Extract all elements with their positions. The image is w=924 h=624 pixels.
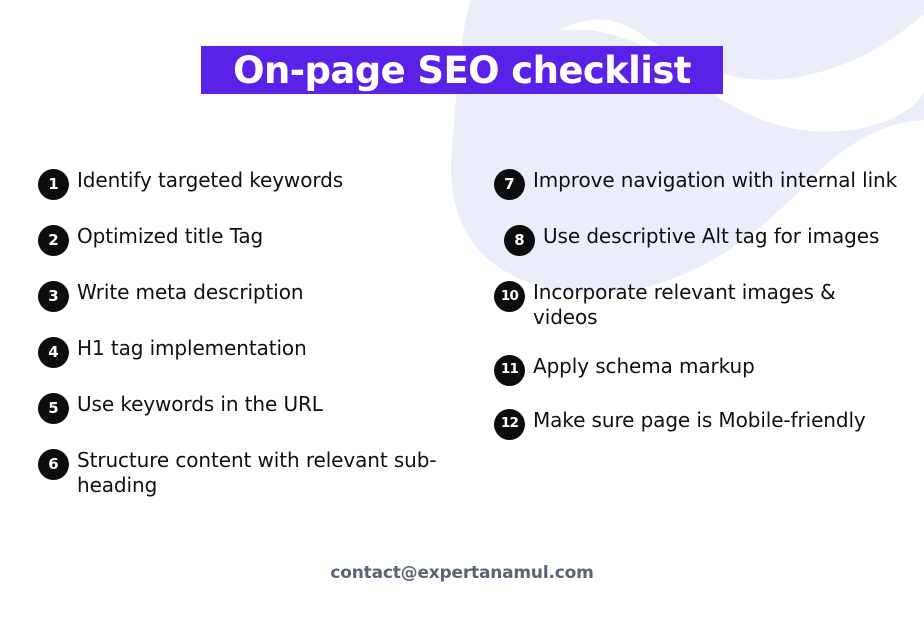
title-banner: On-page SEO checklist xyxy=(201,46,723,94)
checklist-item-2[interactable]: 2 Optimized title Tag xyxy=(38,224,458,256)
item-label: H1 tag implementation xyxy=(77,336,307,361)
item-number-badge: 12 xyxy=(494,409,525,440)
footer: contact@expertanamul.com xyxy=(0,563,924,583)
item-number-badge: 4 xyxy=(38,337,69,368)
checklist-item-7[interactable]: 7 Improve navigation with internal link xyxy=(494,168,914,200)
page-title: On-page SEO checklist xyxy=(233,52,691,89)
checklist-column-right: 7 Improve navigation with internal link … xyxy=(494,168,914,464)
item-label: Identify targeted keywords xyxy=(77,168,343,193)
item-label: Apply schema markup xyxy=(533,354,755,379)
item-number-badge: 5 xyxy=(38,393,69,424)
checklist-item-8[interactable]: 8 Use descriptive Alt tag for images xyxy=(494,224,914,256)
item-label: Incorporate relevant images & videos xyxy=(533,280,903,330)
item-label: Use descriptive Alt tag for images xyxy=(543,224,879,249)
item-label: Use keywords in the URL xyxy=(77,392,323,417)
item-number-badge: 1 xyxy=(38,169,69,200)
checklist-item-5[interactable]: 5 Use keywords in the URL xyxy=(38,392,458,424)
item-number-badge: 6 xyxy=(38,449,69,480)
item-label: Write meta description xyxy=(77,280,303,305)
item-number-badge: 11 xyxy=(494,355,525,386)
checklist-item-4[interactable]: 4 H1 tag implementation xyxy=(38,336,458,368)
item-label: Structure content with relevant sub-head… xyxy=(77,448,447,498)
item-label: Improve navigation with internal link xyxy=(533,168,897,193)
item-number-badge: 7 xyxy=(494,169,525,200)
checklist-item-6[interactable]: 6 Structure content with relevant sub-he… xyxy=(38,448,458,498)
item-label: Optimized title Tag xyxy=(77,224,263,249)
infographic-canvas: On-page SEO checklist 1 Identify targete… xyxy=(0,0,924,624)
item-number-badge: 10 xyxy=(494,281,525,312)
item-label: Make sure page is Mobile-friendly xyxy=(533,408,866,433)
checklist-item-11[interactable]: 11 Apply schema markup xyxy=(494,354,914,386)
checklist-item-1[interactable]: 1 Identify targeted keywords xyxy=(38,168,458,200)
checklist-item-3[interactable]: 3 Write meta description xyxy=(38,280,458,312)
contact-email[interactable]: contact@expertanamul.com xyxy=(330,563,593,583)
item-number-badge: 2 xyxy=(38,225,69,256)
item-number-badge: 8 xyxy=(504,225,535,256)
checklist-item-12[interactable]: 12 Make sure page is Mobile-friendly xyxy=(494,408,914,440)
checklist-item-10[interactable]: 10 Incorporate relevant images & videos xyxy=(494,280,914,330)
item-number-badge: 3 xyxy=(38,281,69,312)
checklist-column-left: 1 Identify targeted keywords 2 Optimized… xyxy=(38,168,458,522)
